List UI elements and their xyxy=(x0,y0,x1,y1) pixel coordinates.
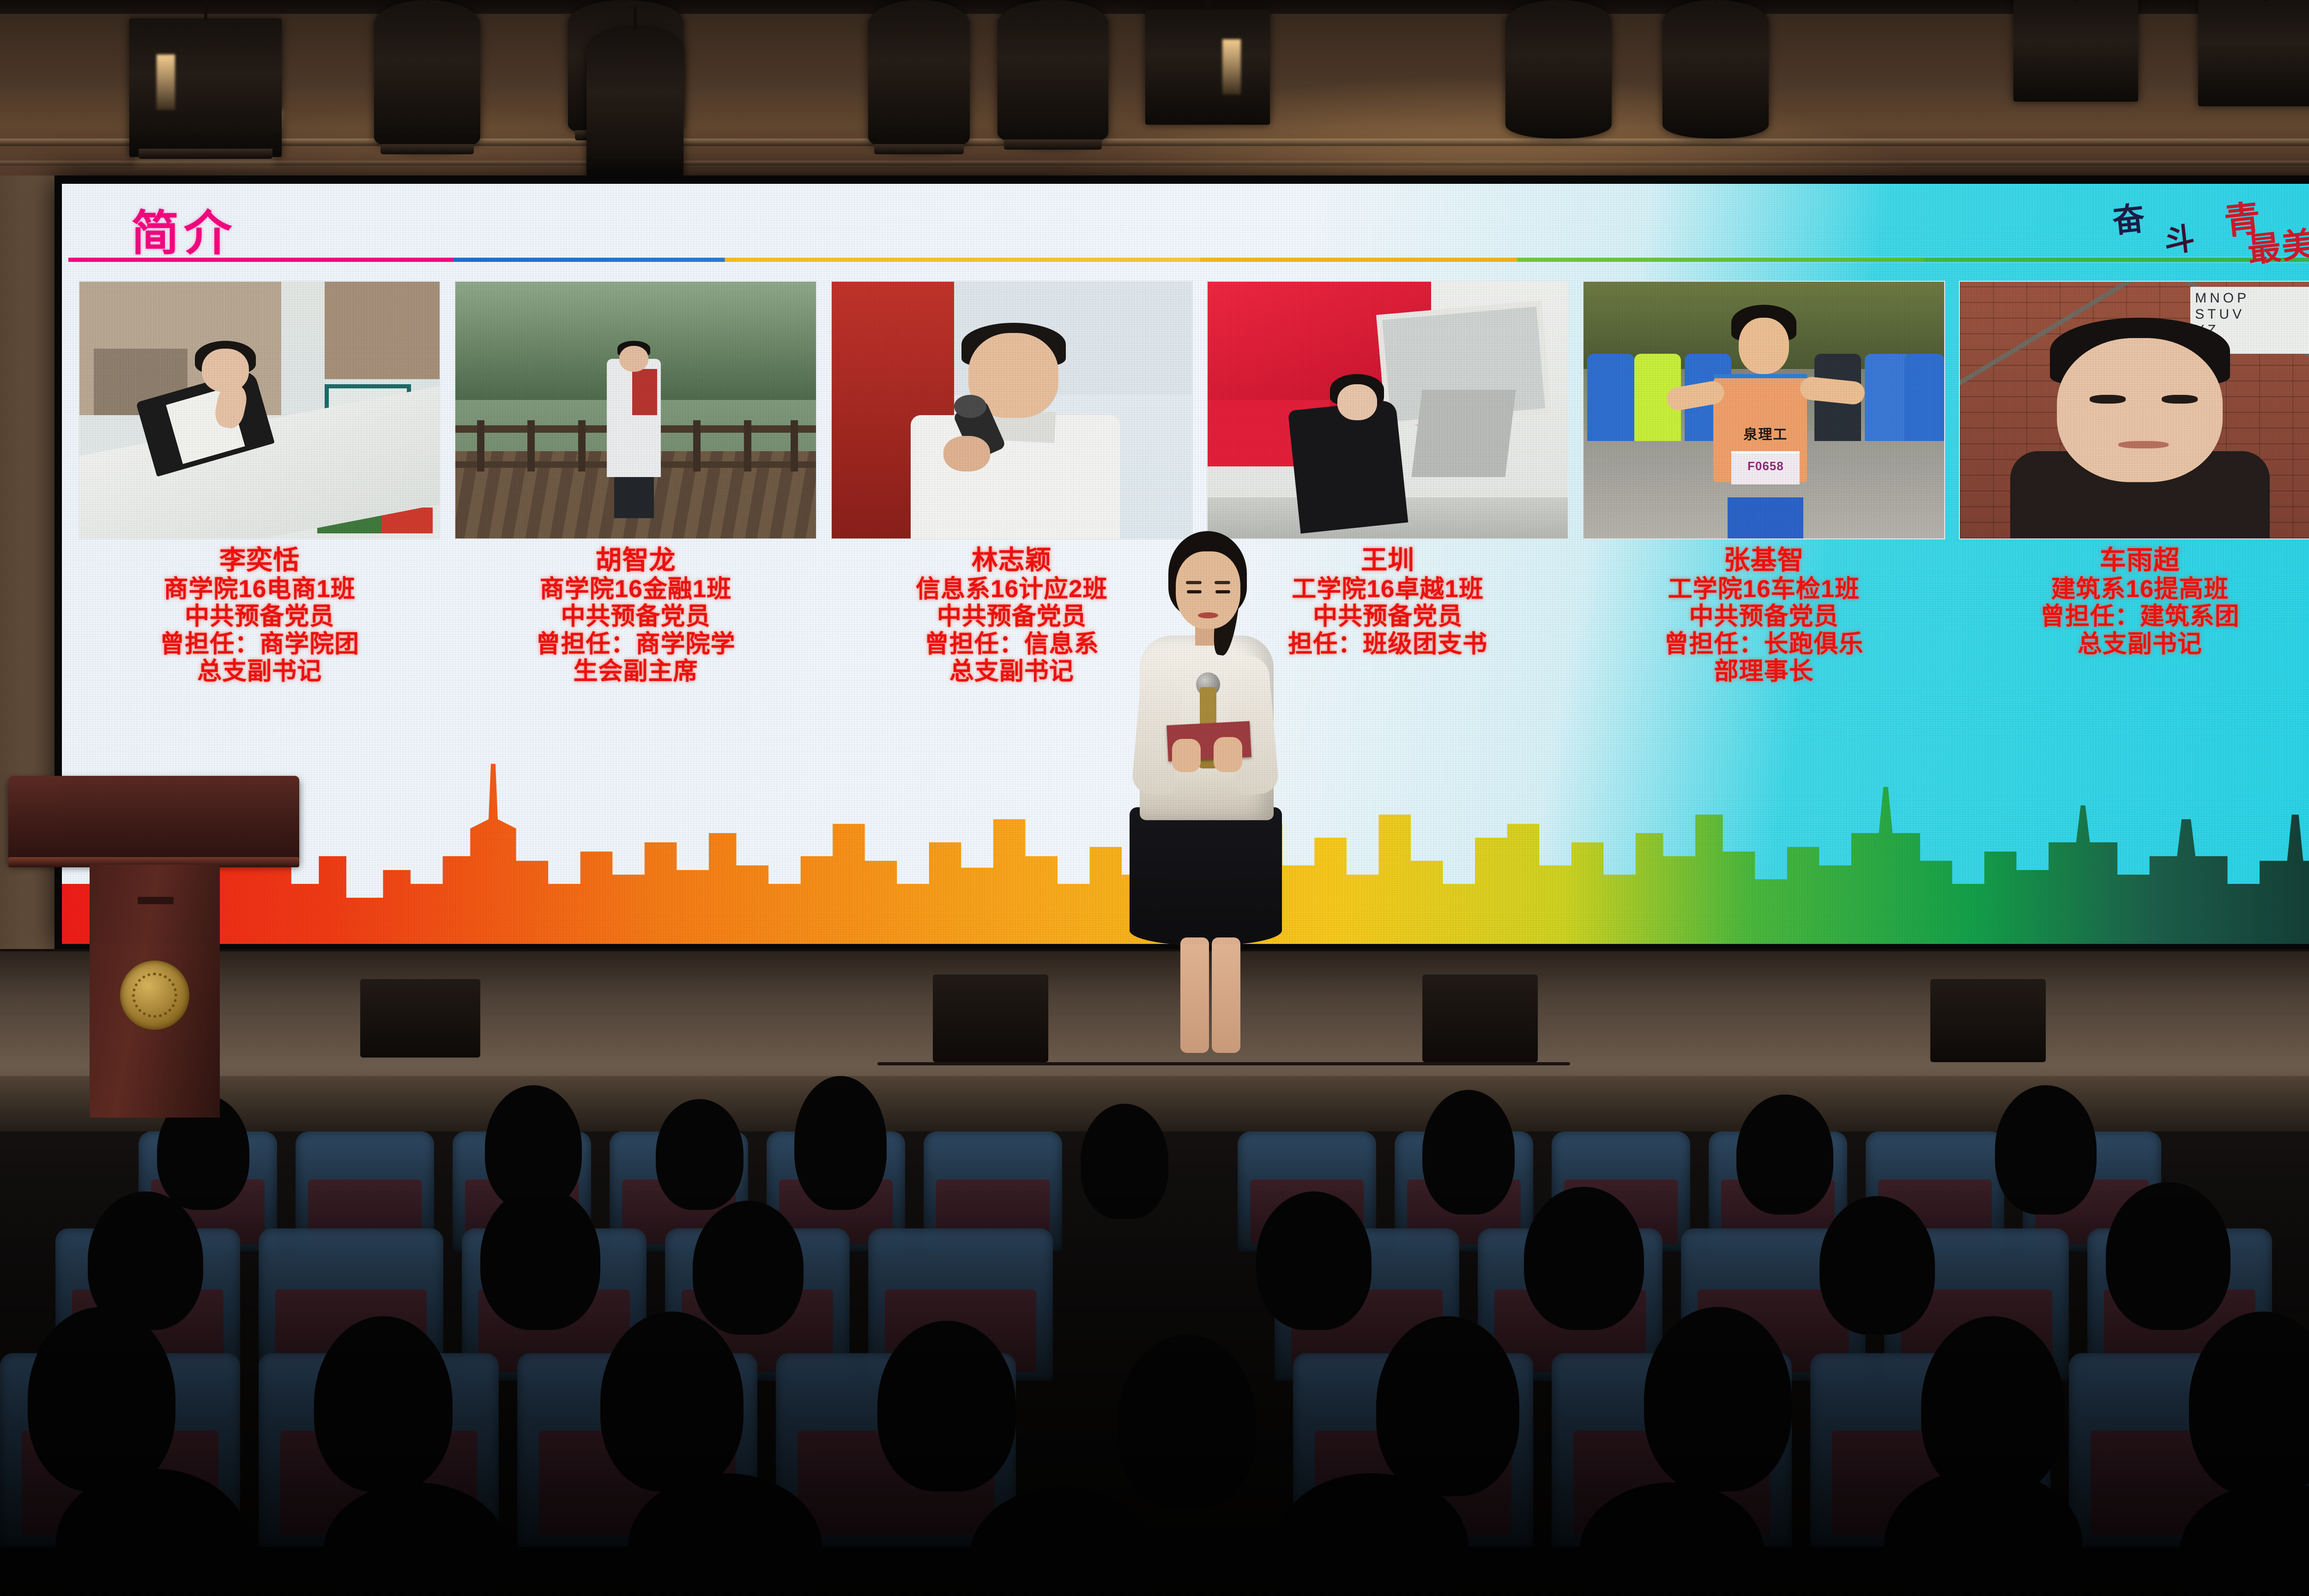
calligraphy-stamp: 奋 斗 青 最美丽 xyxy=(2109,191,2307,265)
stage-light-2 xyxy=(374,0,480,152)
person-info: 林志颖 信息系16计应2班 中共预备党员 曾担任：信息系 总支副书记 xyxy=(916,546,1107,685)
person-card: 李奕恬 商学院16电商1班 中共预备党员 曾担任：商学院团 总支副书记 xyxy=(79,281,441,685)
presenter-hand-right xyxy=(1214,737,1242,772)
presenter-eye-right xyxy=(1215,590,1230,593)
light-lens xyxy=(139,149,272,159)
audience-head xyxy=(314,1316,453,1492)
person-info: 王圳 工学院16卓越1班 中共预备党员 担任：班级团支书 xyxy=(1288,546,1487,658)
audience-house xyxy=(0,1076,2309,1596)
audience-head xyxy=(600,1312,743,1492)
presenter-eyebrow-right xyxy=(1215,581,1230,584)
presenter-eyebrow-left xyxy=(1186,581,1202,584)
poster-line-1: MNOP xyxy=(2195,290,2309,307)
person-role-line-2: 部理事长 xyxy=(1664,658,1863,685)
person-role-line-2: 总支副书记 xyxy=(2040,630,2240,658)
person-role-line-1: 担任：班级团支书 xyxy=(1288,630,1487,658)
stage-light-8 xyxy=(1505,0,1612,139)
light-lens xyxy=(1004,139,1101,150)
person-photo: 泉理工 F0658 xyxy=(1583,281,1945,539)
stage-monitor-center xyxy=(933,974,1048,1062)
photo-girl-railing xyxy=(79,282,440,538)
stage-light-1 xyxy=(129,18,282,157)
presenter-leg-right xyxy=(1212,937,1240,1053)
person-name: 李奕恬 xyxy=(160,546,359,575)
title-divider-rule xyxy=(68,258,2309,262)
stage-light-10 xyxy=(2013,0,2138,102)
audience-head xyxy=(2106,1182,2230,1330)
floor-cable xyxy=(877,1062,1570,1065)
person-role-line-2: 生会副主席 xyxy=(536,658,735,685)
person-info: 胡智龙 商学院16金融1班 中共预备党员 曾担任：商学院学 生会副主席 xyxy=(536,546,735,685)
calligraphy-char-2: 斗 xyxy=(2162,214,2198,261)
person-name: 王圳 xyxy=(1288,546,1487,575)
stage-monitor-right xyxy=(1422,974,1538,1062)
audience-head xyxy=(656,1099,743,1210)
stage-light-7 xyxy=(1145,9,1270,125)
person-class: 工学院16卓越1班 xyxy=(1288,575,1487,603)
person-photo xyxy=(831,281,1193,539)
light-glow xyxy=(157,54,175,110)
audience-head xyxy=(1081,1104,1168,1219)
person-card: 胡智龙 商学院16金融1班 中共预备党员 曾担任：商学院学 生会副主席 xyxy=(454,281,816,685)
podium-gold-medallion-icon xyxy=(120,961,189,1030)
person-photo xyxy=(1207,281,1569,539)
photo-marathon-runner: 泉理工 F0658 xyxy=(1584,282,1944,538)
podium-top xyxy=(8,776,299,864)
person-class: 信息系16计应2班 xyxy=(916,575,1107,603)
stage-light-5 xyxy=(868,0,970,152)
person-name: 林志颖 xyxy=(916,546,1107,575)
podium-slot xyxy=(138,897,174,904)
singlet-text: 泉理工 xyxy=(1724,423,1807,443)
person-photo xyxy=(79,281,441,539)
stage-monitor-far-right xyxy=(1930,979,2046,1062)
audience-head xyxy=(1995,1085,2097,1215)
audience-head xyxy=(1819,1196,1935,1335)
person-party-status: 中共预备党员 xyxy=(1664,603,1863,630)
wall-molding-lower xyxy=(0,161,2309,165)
person-party-status: 中共预备党员 xyxy=(1288,603,1487,630)
person-name: 车雨超 xyxy=(2040,546,2240,575)
person-card: MNOP STUV YZ 车雨超 建筑系16提高班 xyxy=(1959,281,2309,685)
slide-title: 简介 xyxy=(131,194,236,264)
person-party-status: 中共预备党员 xyxy=(536,603,735,630)
stage-light-6 xyxy=(997,0,1108,148)
stage-light-9 xyxy=(1662,0,1769,139)
presenter-leg-left xyxy=(1180,937,1209,1053)
auditorium-scene: 简介 奋 斗 青 最美丽 xyxy=(0,0,2309,1596)
person-card: 泉理工 F0658 张基智 工学院16车检1班 中共预备党员 曾担任：长跑俱乐 … xyxy=(1583,281,1945,685)
audience-head xyxy=(480,1187,600,1330)
person-class: 工学院16车检1班 xyxy=(1664,575,1863,603)
presenter-eye-left xyxy=(1187,590,1202,593)
person-party-status: 中共预备党员 xyxy=(916,603,1107,630)
race-bib-number: F0658 xyxy=(1731,459,1800,473)
person-role-line-1: 曾担任：建筑系团 xyxy=(2040,603,2240,630)
person-role-line-2: 总支副书记 xyxy=(160,658,359,685)
stage-monitor-left xyxy=(360,979,480,1058)
person-role-line-1: 曾担任：商学院学 xyxy=(536,630,735,658)
light-lens xyxy=(874,144,964,154)
audience-head xyxy=(28,1307,175,1492)
presenter-hand-left xyxy=(1172,739,1201,772)
person-class: 建筑系16提高班 xyxy=(2040,575,2240,603)
person-party-status: 中共预备党员 xyxy=(160,603,359,630)
stage-light-4 xyxy=(586,28,683,189)
photo-portrait-brick: MNOP STUV YZ xyxy=(1960,282,2309,538)
photo-man-bridge xyxy=(455,282,816,538)
person-name: 胡智龙 xyxy=(536,546,735,575)
person-role-line-1: 曾担任：商学院团 xyxy=(160,630,359,658)
audience-head xyxy=(1118,1335,1256,1510)
audience-head xyxy=(1524,1187,1644,1330)
stage-light-11 xyxy=(2198,0,2309,106)
presenter-host xyxy=(1113,531,1298,1058)
audience-head xyxy=(1422,1090,1515,1215)
person-role-line-1: 曾担任：信息系 xyxy=(916,630,1107,658)
person-photo: MNOP STUV YZ xyxy=(1959,281,2309,539)
presenter-skirt xyxy=(1130,807,1282,946)
person-class: 商学院16电商1班 xyxy=(160,575,359,603)
person-role-line-2: 总支副书记 xyxy=(916,658,1107,685)
presenter-lips xyxy=(1198,612,1218,618)
audience-head xyxy=(794,1076,887,1210)
person-photo xyxy=(454,281,816,539)
photo-man-microphone xyxy=(832,282,1192,538)
person-info: 张基智 工学院16车检1班 中共预备党员 曾担任：长跑俱乐 部理事长 xyxy=(1664,546,1863,685)
audience-head xyxy=(1376,1316,1519,1496)
audience-head xyxy=(1256,1191,1372,1330)
audience-head xyxy=(1736,1094,1833,1215)
audience-head xyxy=(877,1321,1016,1492)
audience-head xyxy=(1644,1307,1792,1492)
light-lens xyxy=(381,144,474,154)
person-info: 车雨超 建筑系16提高班 曾担任：建筑系团 总支副书记 xyxy=(2040,546,2240,658)
person-role-line-1: 曾担任：长跑俱乐 xyxy=(1664,630,1863,658)
poster-line-2: STUV xyxy=(2195,307,2309,323)
photo-graduation xyxy=(1208,282,1568,538)
audience-head xyxy=(693,1201,804,1335)
light-glow xyxy=(1222,39,1241,95)
person-info: 李奕恬 商学院16电商1班 中共预备党员 曾担任：商学院团 总支副书记 xyxy=(160,546,359,685)
person-class: 商学院16金融1班 xyxy=(536,575,735,603)
lectern-podium xyxy=(8,776,299,1118)
wall-molding-upper xyxy=(0,139,2309,146)
calligraphy-char-1: 奋 xyxy=(2110,193,2148,242)
person-name: 张基智 xyxy=(1664,546,1863,575)
